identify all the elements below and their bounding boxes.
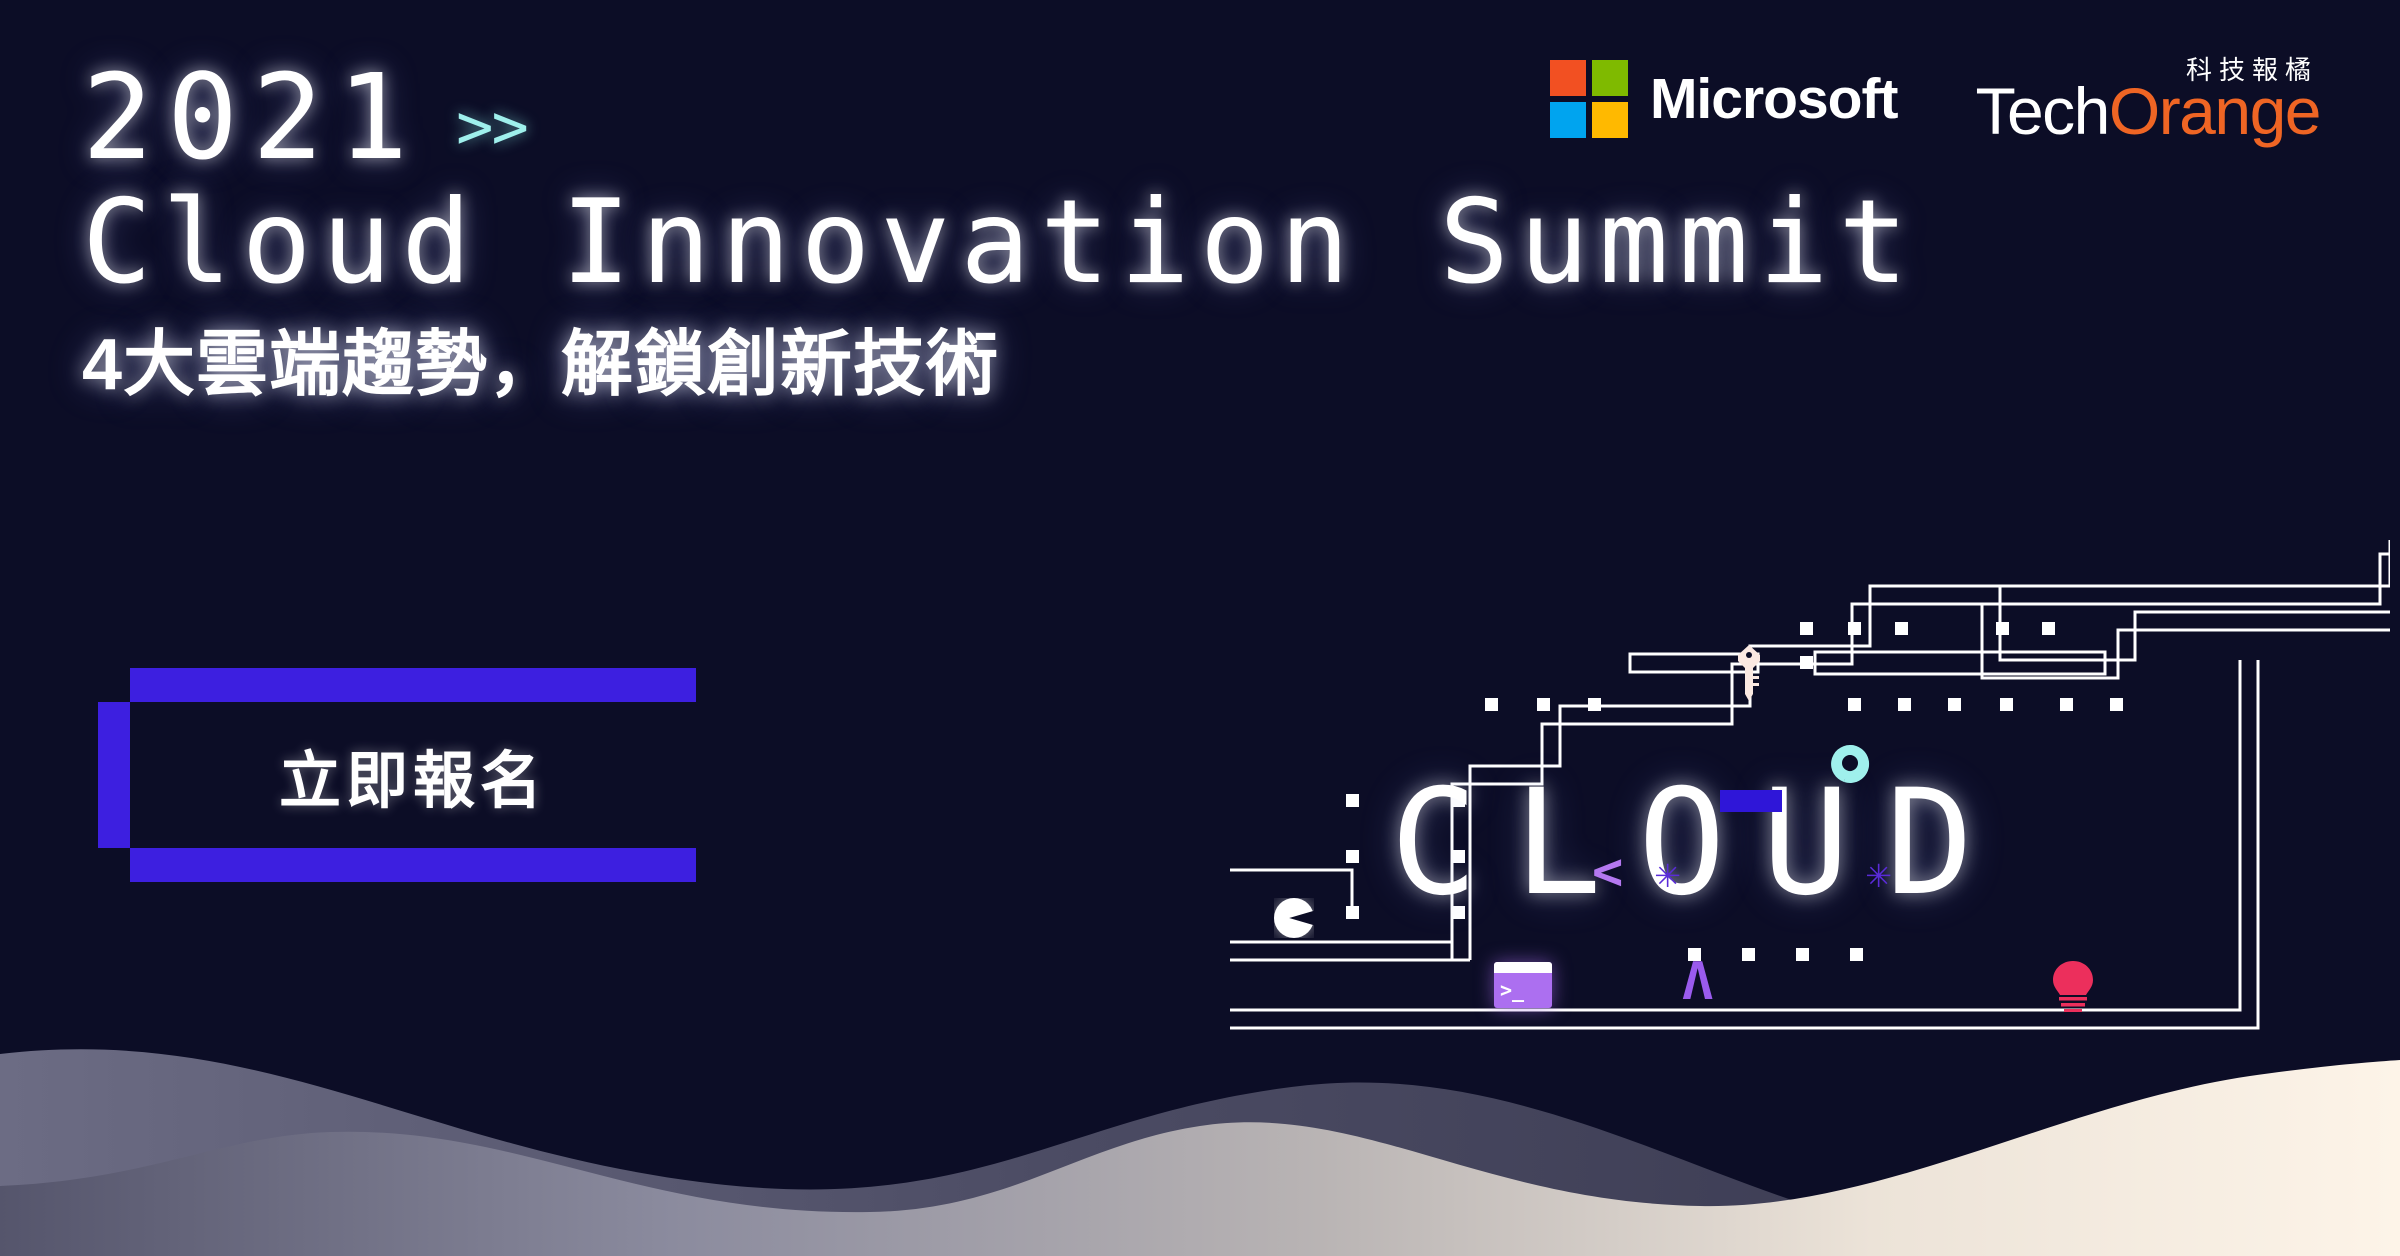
asterisk-right-icon: ✳ [1866,848,1891,897]
techorange-word-tech: Tech [1975,74,2108,148]
headline-block: 2021 >> Cloud Innovation Summit 4大雲端趨勢，解… [82,58,1918,405]
register-button-label: 立即報名 [279,730,547,820]
register-button[interactable]: 立即報名 [130,702,696,848]
wave-front [0,1060,2400,1256]
osi-logo-icon [1830,744,1870,784]
techorange-chinese-name: 科技報橘 [2186,50,2318,87]
cta-frame-left [98,702,132,848]
register-cta[interactable]: 立即報名 [98,668,696,882]
less-than-icon: < [1592,842,1623,902]
decorative-waves [0,936,2400,1256]
key-icon [1736,644,1762,704]
page-subtitle: 4大雲端趨勢，解鎖創新技術 [82,326,1918,405]
cta-frame-bottom [130,848,696,882]
page-title: Cloud Innovation Summit [82,182,1918,304]
event-banner: Microsoft 科技報橘 TechOrange 2021 >> Cloud … [0,0,2400,1256]
o-letter-cap [1720,790,1782,812]
event-year: 2021 [82,58,422,176]
chevron-double-right-icon: >> [456,96,527,176]
cta-frame-top [130,668,696,702]
asterisk-left-icon: ✳ [1655,848,1680,897]
techorange-logo[interactable]: 科技報橘 TechOrange [1975,60,2320,144]
year-row: 2021 >> [82,58,1918,176]
techorange-wordmark: TechOrange [1975,78,2320,144]
